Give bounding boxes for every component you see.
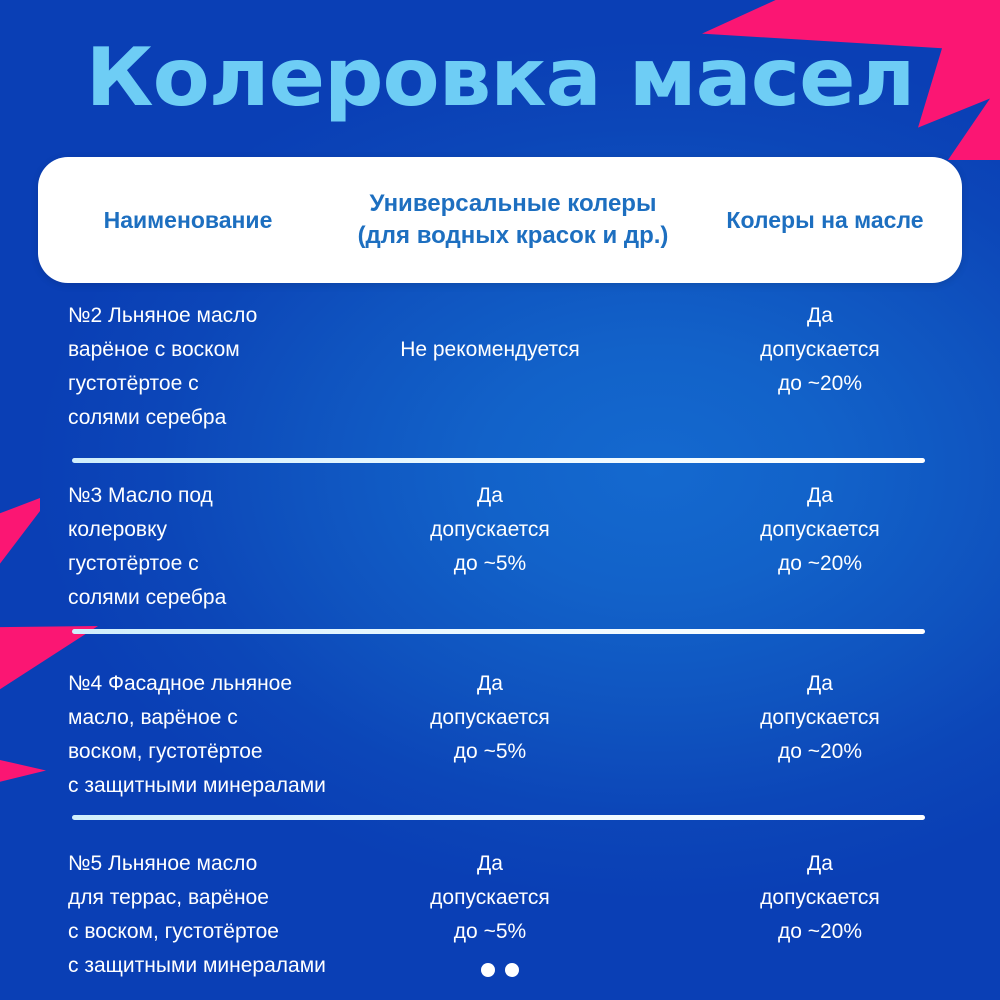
column-header-universal-line2: (для водных красок и др.) bbox=[338, 220, 688, 252]
row-universal-cell: Да допускается до ~5% bbox=[340, 847, 640, 949]
row-oil-cell: Да допускается до ~20% bbox=[640, 847, 1000, 949]
row-oil-cell: Да допускается до ~20% bbox=[640, 299, 1000, 401]
row-name-cell: №4 Фасадное льняное масло, варёное с вос… bbox=[0, 667, 340, 803]
pagination-dots[interactable] bbox=[0, 963, 1000, 977]
pagination-dot[interactable] bbox=[505, 963, 519, 977]
table-body: №2 Льняное масло варёное с воском густот… bbox=[0, 299, 1000, 1000]
row-name-cell: №3 Масло под колеровку густотёртое с сол… bbox=[0, 479, 340, 615]
row-divider bbox=[72, 815, 925, 820]
row-divider bbox=[72, 629, 925, 634]
column-header-name: Наименование bbox=[38, 204, 338, 236]
table-row: №4 Фасадное льняное масло, варёное с вос… bbox=[0, 650, 1000, 832]
table-header-card: Наименование Универсальные колеры (для в… bbox=[38, 157, 962, 283]
column-header-oil: Колеры на масле bbox=[688, 204, 962, 236]
table-row: №2 Льняное масло варёное с воском густот… bbox=[0, 299, 1000, 458]
column-header-universal-line1: Универсальные колеры bbox=[338, 188, 688, 220]
row-universal-cell: Не рекомендуется bbox=[340, 299, 640, 367]
row-universal-cell: Да допускается до ~5% bbox=[340, 479, 640, 581]
row-name-cell: №2 Льняное масло варёное с воском густот… bbox=[0, 299, 340, 435]
row-oil-cell: Да допускается до ~20% bbox=[640, 479, 1000, 581]
table-row: №3 Масло под колеровку густотёртое с сол… bbox=[0, 458, 1000, 650]
pagination-dot[interactable] bbox=[481, 963, 495, 977]
row-universal-cell: Да допускается до ~5% bbox=[340, 667, 640, 769]
row-oil-cell: Да допускается до ~20% bbox=[640, 667, 1000, 769]
page-title: Колеровка масел bbox=[0, 34, 1000, 122]
column-header-universal: Универсальные колеры (для водных красок … bbox=[338, 188, 688, 252]
slide-canvas: Колеровка масел Наименование Универсальн… bbox=[0, 0, 1000, 1000]
